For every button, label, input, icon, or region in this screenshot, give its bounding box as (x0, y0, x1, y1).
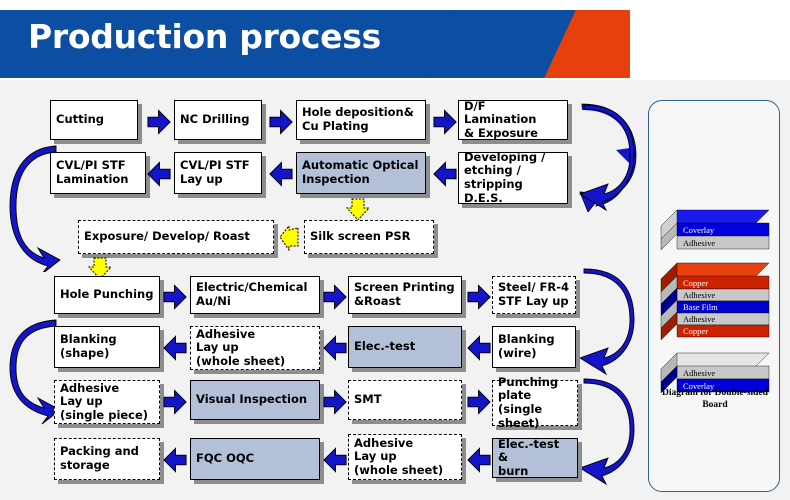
box-label: SMT (354, 393, 382, 407)
panel-caption: Diagram for Double-sided Board (649, 387, 781, 412)
process-box-nc-drilling[interactable]: NC Drilling (174, 100, 262, 140)
process-box-cvl-pi-layup[interactable]: CVL/PI STF Lay up (174, 152, 262, 194)
svg-text:Adhesive: Adhesive (683, 290, 715, 300)
box-label: CVL/PI STF Lay up (180, 159, 250, 186)
box-label: Visual Inspection (196, 393, 307, 407)
process-box-blanking-wire[interactable]: Blanking (wire) (492, 326, 576, 368)
box-label: Adhesive Lay up (whole sheet) (196, 328, 285, 369)
process-box-punching-plate[interactable]: Punching plate (single sheet) (492, 380, 578, 426)
process-box-silk-screen-psr[interactable]: Silk screen PSR (304, 220, 434, 254)
process-box-packing-storage[interactable]: Packing and storage (54, 438, 160, 480)
arrow-left-yellow-silkscreen-to-exposure (278, 225, 302, 251)
svg-text:Copper: Copper (683, 278, 708, 288)
arrow-left-blankingwire-to-electest (466, 334, 492, 360)
box-label: Steel/ FR-4 STF Lay up (498, 281, 569, 308)
process-box-elec-test-burn[interactable]: Elec.-test & burn (492, 438, 578, 478)
box-label: Automatic Optical Inspection (302, 159, 418, 186)
production-process-page: Production process (0, 0, 790, 500)
process-box-adhesive-whole-sheet-2[interactable]: Adhesive Lay up (whole sheet) (348, 434, 462, 480)
box-label: Silk screen PSR (310, 230, 411, 244)
box-label: Screen Printing &Roast (354, 281, 455, 308)
box-label: Cutting (56, 113, 104, 127)
box-label: CVL/PI STF Lamination (56, 159, 129, 186)
process-box-developing-etching[interactable]: Developing / etching / stripping D.E.S. (458, 152, 568, 204)
box-label: Packing and storage (60, 445, 139, 472)
box-label: Adhesive Lay up (whole sheet) (354, 437, 443, 478)
arrow-right-electricchemical-to-screenprinting (322, 283, 348, 309)
curved-arrow-row6-to-row7-right (578, 376, 638, 486)
curved-arrow-row2-to-row4-left (4, 142, 62, 272)
process-box-visual-inspection[interactable]: Visual Inspection (190, 380, 320, 420)
svg-text:Base Film: Base Film (683, 302, 718, 312)
arrow-left-adhesivewhole2-to-fqcoqc (322, 446, 348, 472)
layer-stack-middle: Copper Adhesive Base Film Adhesive Coppe… (659, 259, 771, 350)
process-box-electric-chemical[interactable]: Electric/Chemical Au/Ni (190, 276, 320, 314)
process-box-steel-fr4[interactable]: Steel/ FR-4 STF Lay up (492, 276, 576, 314)
process-box-hole-punching[interactable]: Hole Punching (54, 276, 160, 314)
process-box-screen-printing[interactable]: Screen Printing &Roast (348, 276, 462, 314)
process-box-fqc-oqc[interactable]: FQC OQC (190, 438, 320, 480)
arrow-left-adhesivewhole1-to-blankingshape (162, 334, 188, 360)
page-title: Production process (28, 17, 381, 56)
svg-text:Adhesive: Adhesive (683, 368, 715, 378)
arrow-right-holedeposition-to-dflamination (432, 108, 458, 134)
arrow-left-cvllayup-to-cvllamination (146, 160, 172, 186)
arrow-right-ncdrilling-to-holedeposition (268, 108, 294, 134)
process-box-exposure-develop-roast[interactable]: Exposure/ Develop/ Roast (78, 220, 274, 254)
box-label: Elec.-test & burn (498, 438, 572, 479)
process-box-cvl-pi-lamination[interactable]: CVL/PI STF Lamination (50, 152, 146, 194)
process-box-df-lamination[interactable]: D/F Lamination & Exposure (458, 100, 568, 140)
svg-text:Adhesive: Adhesive (683, 238, 715, 248)
box-label: Adhesive Lay up (single piece) (60, 382, 148, 423)
arrow-right-cutting-to-ncdrilling (146, 108, 172, 134)
box-label: Exposure/ Develop/ Roast (84, 230, 250, 244)
curved-arrow-row4-to-row5-right (578, 266, 638, 376)
arrow-left-electest-to-adhesivewhole1 (322, 334, 348, 360)
svg-text:Copper: Copper (683, 326, 708, 336)
process-box-adhesive-whole-sheet-1[interactable]: Adhesive Lay up (whole sheet) (190, 326, 320, 370)
arrow-right-screenprinting-to-steelfr4 (466, 283, 492, 309)
arrow-left-fqcoqc-to-packing (162, 446, 188, 472)
arrow-right-smt-to-punchingplate (466, 388, 492, 414)
box-label: Electric/Chemical Au/Ni (196, 281, 307, 308)
process-box-adhesive-single-piece[interactable]: Adhesive Lay up (single piece) (54, 380, 160, 424)
process-box-automatic-optical-inspection[interactable]: Automatic Optical Inspection (296, 152, 426, 194)
double-sided-board-panel: Coverlay Adhesive Copper (648, 100, 780, 492)
arrow-left-developing-to-aoi (432, 160, 458, 186)
box-label: Punching plate (single sheet) (498, 376, 572, 430)
box-label: Hole Punching (60, 288, 153, 302)
box-label: D/F Lamination & Exposure (464, 100, 562, 141)
process-box-blanking-shape[interactable]: Blanking (shape) (54, 326, 160, 368)
header-banner: Production process (0, 0, 790, 78)
svg-text:Adhesive: Adhesive (683, 314, 715, 324)
process-box-elec-test[interactable]: Elec.-test (348, 326, 462, 368)
curved-arrow-row1-to-row2-right (578, 102, 638, 212)
box-label: Blanking (shape) (60, 333, 117, 360)
box-label: Blanking (wire) (498, 333, 555, 360)
box-label: FQC OQC (196, 452, 254, 466)
arrow-right-adhesivesingle-to-visualinspection (162, 388, 188, 414)
svg-text:Coverlay: Coverlay (683, 225, 715, 235)
process-box-hole-deposition[interactable]: Hole deposition& Cu Plating (296, 100, 426, 140)
flowchart-canvas: Cutting NC Drilling Hole deposition& Cu … (0, 80, 790, 500)
box-label: Developing / etching / stripping D.E.S. (464, 151, 562, 205)
box-label: Elec.-test (354, 340, 415, 354)
arrow-right-visualinspection-to-smt (322, 388, 348, 414)
arrow-right-holepunching-to-electricchemical (162, 283, 188, 309)
box-label: NC Drilling (180, 113, 249, 127)
layer-stack-middle-svg: Copper Adhesive Base Film Adhesive Coppe… (659, 259, 771, 345)
box-label: Hole deposition& Cu Plating (302, 106, 414, 133)
layer-stack-top-svg: Coverlay Adhesive (659, 206, 771, 252)
arrow-left-aoi-to-cvllayup (268, 160, 294, 186)
arrow-left-electestburn-to-adhesivewhole2 (466, 446, 492, 472)
process-box-cutting[interactable]: Cutting (50, 100, 138, 140)
layer-stack-top: Coverlay Adhesive (659, 206, 771, 257)
process-box-smt[interactable]: SMT (348, 380, 462, 420)
